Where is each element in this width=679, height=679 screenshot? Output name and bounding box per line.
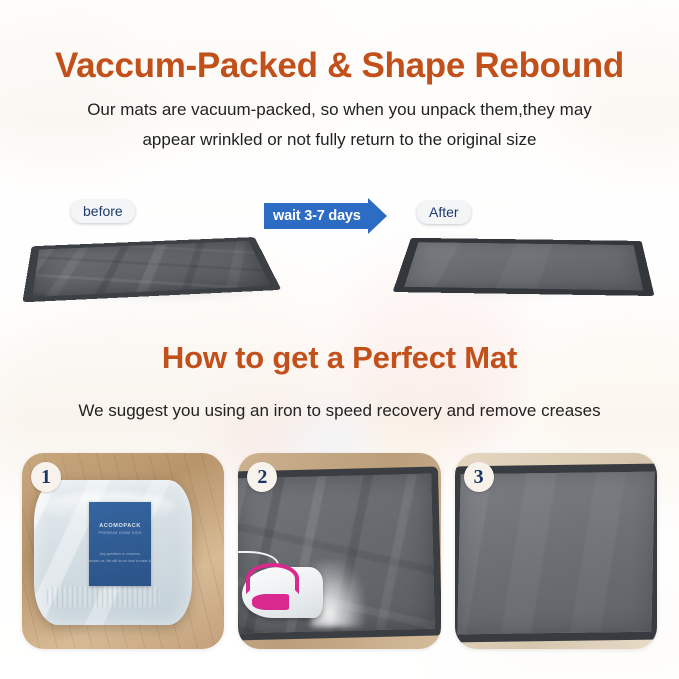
- package-fine-print-line-2: contact us. We will do our best to make …: [89, 559, 152, 564]
- bag-compressed-ridges: [47, 586, 161, 606]
- section-one-subtitle-line-1: Our mats are vacuum-packed, so when you …: [0, 95, 679, 125]
- wait-arrow-label: wait 3-7 days: [264, 203, 368, 229]
- section-one-heading: Vaccum-Packed & Shape Rebound: [0, 46, 679, 86]
- package-label-card: ACOMOPACK PREMIUM HOME KIDS Any question…: [89, 502, 152, 586]
- infographic-page: Vaccum-Packed & Shape Rebound Our mats a…: [0, 0, 679, 679]
- arrow-head-icon: [368, 198, 387, 234]
- section-one-subtitle-line-2: appear wrinkled or not fully return to t…: [0, 125, 679, 155]
- before-mat-figure: [24, 176, 284, 296]
- iron-pink-accent: [252, 594, 288, 610]
- section-two-heading-group: How to get a Perfect Mat: [0, 340, 679, 376]
- step-badge-3: 3: [464, 462, 494, 492]
- package-brand-tagline: PREMIUM HOME KIDS: [99, 531, 142, 535]
- step-panels: ACOMOPACK PREMIUM HOME KIDS Any question…: [22, 453, 657, 649]
- step-panel-3[interactable]: 3: [455, 453, 657, 649]
- section-one-subtitle-group: Our mats are vacuum-packed, so when you …: [0, 95, 679, 155]
- section-two-subtitle-group: We suggest you using an iron to speed re…: [0, 396, 679, 426]
- section-two-subtitle: We suggest you using an iron to speed re…: [0, 396, 679, 426]
- package-brand-name: ACOMOPACK: [99, 523, 141, 529]
- after-mat-figure: [392, 180, 654, 294]
- package-fine-print-line-1: Any questions or concerns,: [100, 552, 141, 557]
- iron-handle-icon: [246, 563, 299, 594]
- after-mat-image: [393, 238, 655, 296]
- after-label: After: [417, 201, 471, 224]
- step-badge-1: 1: [31, 462, 61, 492]
- section-one-heading-group: Vaccum-Packed & Shape Rebound: [0, 46, 679, 86]
- before-label: before: [71, 200, 135, 223]
- step-panel-1[interactable]: ACOMOPACK PREMIUM HOME KIDS Any question…: [22, 453, 224, 649]
- section-two-heading: How to get a Perfect Mat: [0, 340, 679, 376]
- wait-arrow-banner: wait 3-7 days: [264, 203, 387, 229]
- step-panel-2[interactable]: 2: [238, 453, 440, 649]
